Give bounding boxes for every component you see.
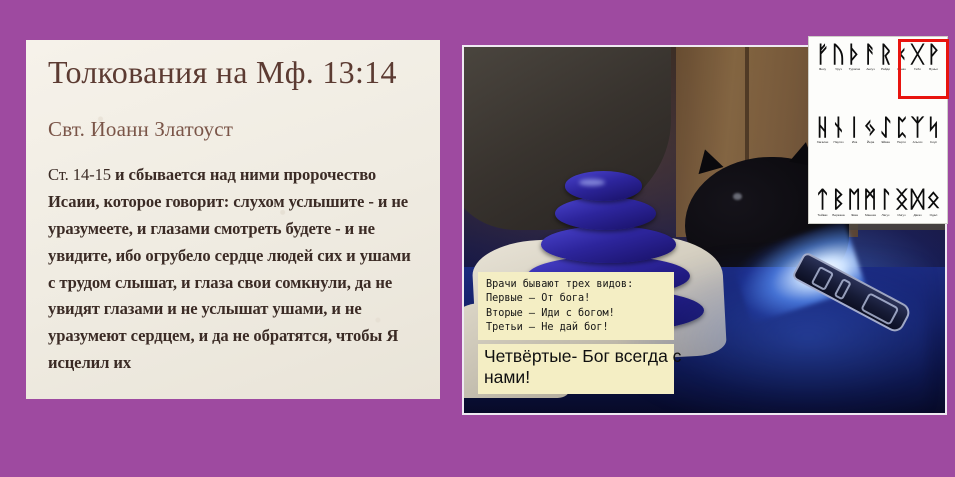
rune-name-gebo: Гебо <box>911 68 925 71</box>
blue-plate-4 <box>555 197 656 230</box>
rune-glyph-eihwaz: ᛇ <box>878 116 893 140</box>
rune-glyph-wunjo: ᚹ <box>926 43 941 67</box>
rune-glyph-ehwaz: ᛖ <box>847 188 862 212</box>
scripture-body-text: и сбывается над ними пророчество Исаии, … <box>48 165 411 372</box>
runes-chart: ᚠФеху ᚢУруз ᚦТурисаз ᚨАнсуз ᚱРайдо ᚲКена… <box>808 36 948 224</box>
rune-name-jera: Йера <box>863 141 877 144</box>
rune-cell: ᚷГебо <box>910 43 925 72</box>
rune-name-raido: Райдо <box>879 68 893 71</box>
rune-name-fehu: Феху <box>816 68 830 71</box>
page-title: Толкования на Мф. 13:14 <box>48 54 418 91</box>
rune-glyph-naudiz: ᚾ <box>831 116 846 140</box>
rune-cell: ᛏТейваз <box>815 188 830 217</box>
caption-line-2: Первые — От бога! <box>486 292 666 306</box>
rune-name-hagalaz: Хагалаз <box>816 141 830 144</box>
rune-cell: ᛈПерто <box>894 116 909 145</box>
rune-cell: ᛖЭваз <box>847 188 862 217</box>
rune-glyph-dagaz: ᛞ <box>910 188 925 212</box>
rune-glyph-mannaz: ᛗ <box>863 188 878 212</box>
rune-name-teiwaz: Тейваз <box>816 214 830 217</box>
rune-name-ingwaz: Ингуз <box>895 214 909 217</box>
rune-cell: ᛉАльгиз <box>910 116 925 145</box>
rune-glyph-fehu: ᚠ <box>815 43 830 67</box>
caption-line-3: Вторые — Иди с богом! <box>486 307 666 321</box>
runes-row-2: ᚺХагалаз ᚾНаутиз ᛁИса ᛃЙера ᛇЭйваз ᛈПерт… <box>813 116 943 145</box>
rune-cell: ᛃЙера <box>863 116 878 145</box>
rune-cell: ᛇЭйваз <box>878 116 893 145</box>
rune-name-ehwaz: Эваз <box>847 214 861 217</box>
rune-cell: ᚺХагалаз <box>815 116 830 145</box>
rune-glyph-berkana: ᛒ <box>831 188 846 212</box>
rune-name-isa: Иса <box>847 141 861 144</box>
rune-name-thurisaz: Турисаз <box>847 68 861 71</box>
caption-line-1: Врачи бывают трех видов: <box>486 278 666 292</box>
rune-name-laguz: Лагуз <box>879 214 893 217</box>
caption-overflow-line-2: нами! <box>484 367 674 388</box>
rune-cell: ᚨАнсуз <box>863 43 878 72</box>
rune-name-mannaz: Манназ <box>863 214 877 217</box>
rune-glyph-isa: ᛁ <box>847 116 862 140</box>
flashlight-band-2 <box>834 278 852 300</box>
flashlight-band-1 <box>811 265 835 290</box>
rune-cell: ᛋСоул <box>926 116 941 145</box>
rune-name-naudiz: Наутиз <box>831 141 845 144</box>
caption-box: Врачи бывают трех видов: Первые — От бог… <box>478 272 674 340</box>
rune-name-wunjo: Вуньо <box>927 68 941 71</box>
rune-glyph-uruz: ᚢ <box>831 43 846 67</box>
rune-glyph-sowilo: ᛋ <box>926 116 941 140</box>
rune-cell: ᚾНаутиз <box>831 116 846 145</box>
rune-glyph-thurisaz: ᚦ <box>847 43 862 67</box>
clipped-top-text: · · · · · <box>26 40 440 42</box>
rune-cell: ᛟОдал <box>926 188 941 217</box>
rune-cell: ᛒБеркана <box>831 188 846 217</box>
rune-cell: ᛝИнгуз <box>894 188 909 217</box>
rune-name-ansuz: Ансуз <box>863 68 877 71</box>
rune-cell: ᚱРайдо <box>878 43 893 72</box>
rune-name-dagaz: Дагаз <box>911 214 925 217</box>
rune-glyph-gebo: ᚷ <box>910 43 925 67</box>
rune-glyph-algiz: ᛉ <box>910 116 925 140</box>
rune-cell: ᛗМанназ <box>863 188 878 217</box>
rune-cell: ᛁИса <box>847 116 862 145</box>
rune-cell: ᚢУруз <box>831 43 846 72</box>
plate-highlight <box>579 179 605 186</box>
rune-cell: ᛚЛагуз <box>878 188 893 217</box>
caption-line-4: Третьи — Не дай бог! <box>486 321 666 335</box>
rune-name-perthro: Перто <box>895 141 909 144</box>
rune-glyph-hagalaz: ᚺ <box>815 116 830 140</box>
rune-name-uruz: Уруз <box>831 68 845 71</box>
rune-name-kenaz: Кеназ <box>895 68 909 71</box>
rune-glyph-ingwaz: ᛝ <box>894 188 909 212</box>
rune-name-eihwaz: Эйваз <box>879 141 893 144</box>
rune-name-sowilo: Соул <box>927 141 941 144</box>
rune-cell: ᚠФеху <box>815 43 830 72</box>
rune-name-berkana: Беркана <box>831 214 845 217</box>
rune-name-algiz: Альгиз <box>911 141 925 144</box>
rune-cell: ᚲКеназ <box>894 43 909 72</box>
caption-overflow: Четвёртые- Бог всегда с нами! <box>478 344 674 394</box>
rune-cell: ᚹВуньо <box>926 43 941 72</box>
rune-cell: ᛞДагаз <box>910 188 925 217</box>
rune-glyph-perthro: ᛈ <box>894 116 909 140</box>
blue-plate-5 <box>565 171 642 200</box>
rune-cell: ᚦТурисаз <box>847 43 862 72</box>
runes-row-3: ᛏТейваз ᛒБеркана ᛖЭваз ᛗМанназ ᛚЛагуз ᛝИ… <box>813 188 943 217</box>
verse-reference: Ст. 14-15 <box>48 165 111 184</box>
rune-glyph-kenaz: ᚲ <box>894 43 909 67</box>
rune-glyph-raido: ᚱ <box>878 43 893 67</box>
rune-glyph-jera: ᛃ <box>863 116 878 140</box>
runes-row-1: ᚠФеху ᚢУруз ᚦТурисаз ᚨАнсуз ᚱРайдо ᚲКена… <box>813 43 943 72</box>
rune-glyph-othala: ᛟ <box>926 188 941 212</box>
scripture-card: · · · · · Толкования на Мф. 13:14 Свт. И… <box>26 40 440 399</box>
scripture-body: Ст. 14-15 и сбывается над ними пророчест… <box>48 162 418 377</box>
caption-overflow-line-1: Четвёртые- Бог всегда с <box>484 346 674 367</box>
rune-glyph-teiwaz: ᛏ <box>815 188 830 212</box>
rune-glyph-ansuz: ᚨ <box>863 43 878 67</box>
author-name: Свт. Иоанн Златоуст <box>48 117 418 142</box>
rune-glyph-laguz: ᛚ <box>878 188 893 212</box>
rune-name-othala: Одал <box>927 214 941 217</box>
